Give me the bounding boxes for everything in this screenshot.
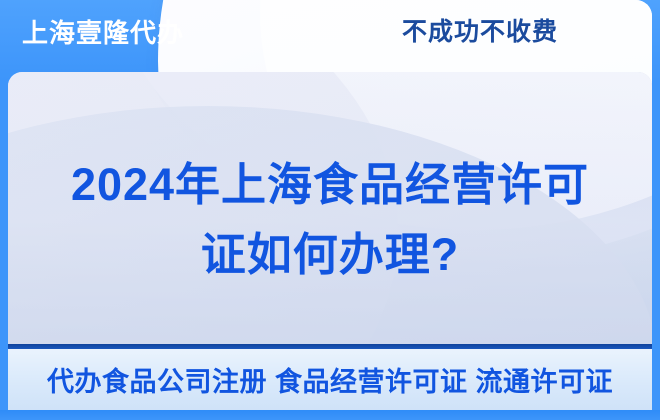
footer-blue-band — [0, 410, 660, 420]
page-title-line-1: 2024年上海食品经营许可 — [8, 150, 652, 220]
keyword-list: 代办食品公司注册 食品经营许可证 流通许可证 — [47, 360, 613, 399]
brand-name: 上海壹隆代办 — [22, 20, 184, 46]
page-title-line-2: 证如何办理? — [8, 220, 652, 290]
page-title: 2024年上海食品经营许可 证如何办理? — [8, 150, 652, 290]
keyword-bar: 代办食品公司注册 食品经营许可证 流通许可证 — [8, 349, 652, 410]
slogan-text: 不成功不收费 — [330, 20, 630, 45]
promo-poster: 上海壹隆代办 不成功不收费 2024年上海食品经营许可 证如何办理? 代办食品公… — [0, 0, 660, 420]
